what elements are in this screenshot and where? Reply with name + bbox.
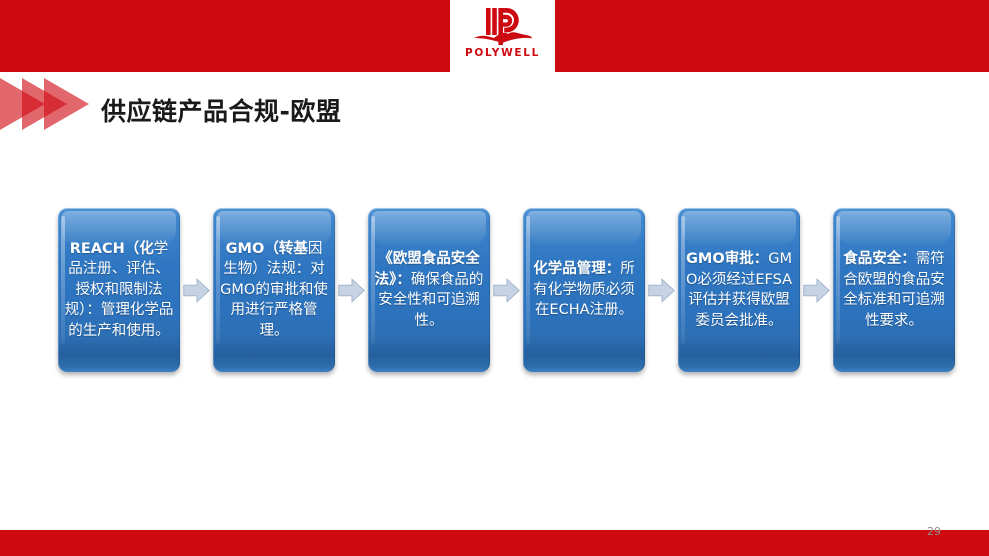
flow-step-text: REACH（化学品注册、评估、授权和限制法规）：管理化学品的生产和使用。 [58, 239, 180, 342]
flow-step-gmo-regulation[interactable]: GMO（转基因生物）法规：对GMO的审批和使用进行严格管理。 [213, 208, 335, 372]
page-number: 29 [927, 525, 941, 538]
title-chevrons-icon [0, 76, 96, 132]
flow-step-lead: 食品安全： [843, 251, 916, 267]
flow-step-text: GMO（转基因生物）法规：对GMO的审批和使用进行严格管理。 [213, 239, 335, 342]
flow-step-food-safety[interactable]: 食品安全：需符合欧盟的食品安全标准和可追溯性要求。 [833, 208, 955, 372]
flow-step-reach[interactable]: REACH（化学品注册、评估、授权和限制法规）：管理化学品的生产和使用。 [58, 208, 180, 372]
flow-step-lead: GMO审批： [686, 251, 768, 267]
flow-step-text: 化学品管理：所有化学物质必须在ECHA注册。 [523, 259, 645, 321]
flow-step-text: 食品安全：需符合欧盟的食品安全标准和可追溯性要求。 [833, 249, 955, 331]
flow-step-lead: REACH（化 [70, 241, 154, 257]
arrow-right-icon [647, 277, 676, 304]
arrow-right-icon [182, 277, 211, 304]
flow-arrow-5 [800, 272, 833, 308]
polywell-p-logo-icon [472, 4, 534, 48]
flow-step-lead: 化学品管理： [533, 261, 620, 277]
flow-step-lead: GMO（转基 [226, 241, 308, 257]
flow-arrow-2 [335, 272, 368, 308]
logo-panel: POLYWELL [450, 0, 555, 72]
flow-diagram: REACH（化学品注册、评估、授权和限制法规）：管理化学品的生产和使用。 GMO… [58, 204, 958, 376]
flow-arrow-4 [645, 272, 678, 308]
flow-step-chemical-management[interactable]: 化学品管理：所有化学物质必须在ECHA注册。 [523, 208, 645, 372]
flow-step-gmo-approval[interactable]: GMO审批：GMO必须经过EFSA评估并获得欧盟委员会批准。 [678, 208, 800, 372]
flow-step-text: GMO审批：GMO必须经过EFSA评估并获得欧盟委员会批准。 [678, 249, 800, 331]
footer-red-bar [0, 530, 989, 556]
arrow-right-icon [802, 277, 831, 304]
flow-step-text: 《欧盟食品安全法》：确保食品的安全性和可追溯性。 [368, 249, 490, 331]
page-title: 供应链产品合规-欧盟 [101, 92, 341, 128]
flow-arrow-1 [180, 272, 213, 308]
logo-wordmark: POLYWELL [465, 47, 540, 59]
flow-arrow-3 [490, 272, 523, 308]
arrow-right-icon [337, 277, 366, 304]
arrow-right-icon [492, 277, 521, 304]
flow-step-eu-food-safety-law[interactable]: 《欧盟食品安全法》：确保食品的安全性和可追溯性。 [368, 208, 490, 372]
